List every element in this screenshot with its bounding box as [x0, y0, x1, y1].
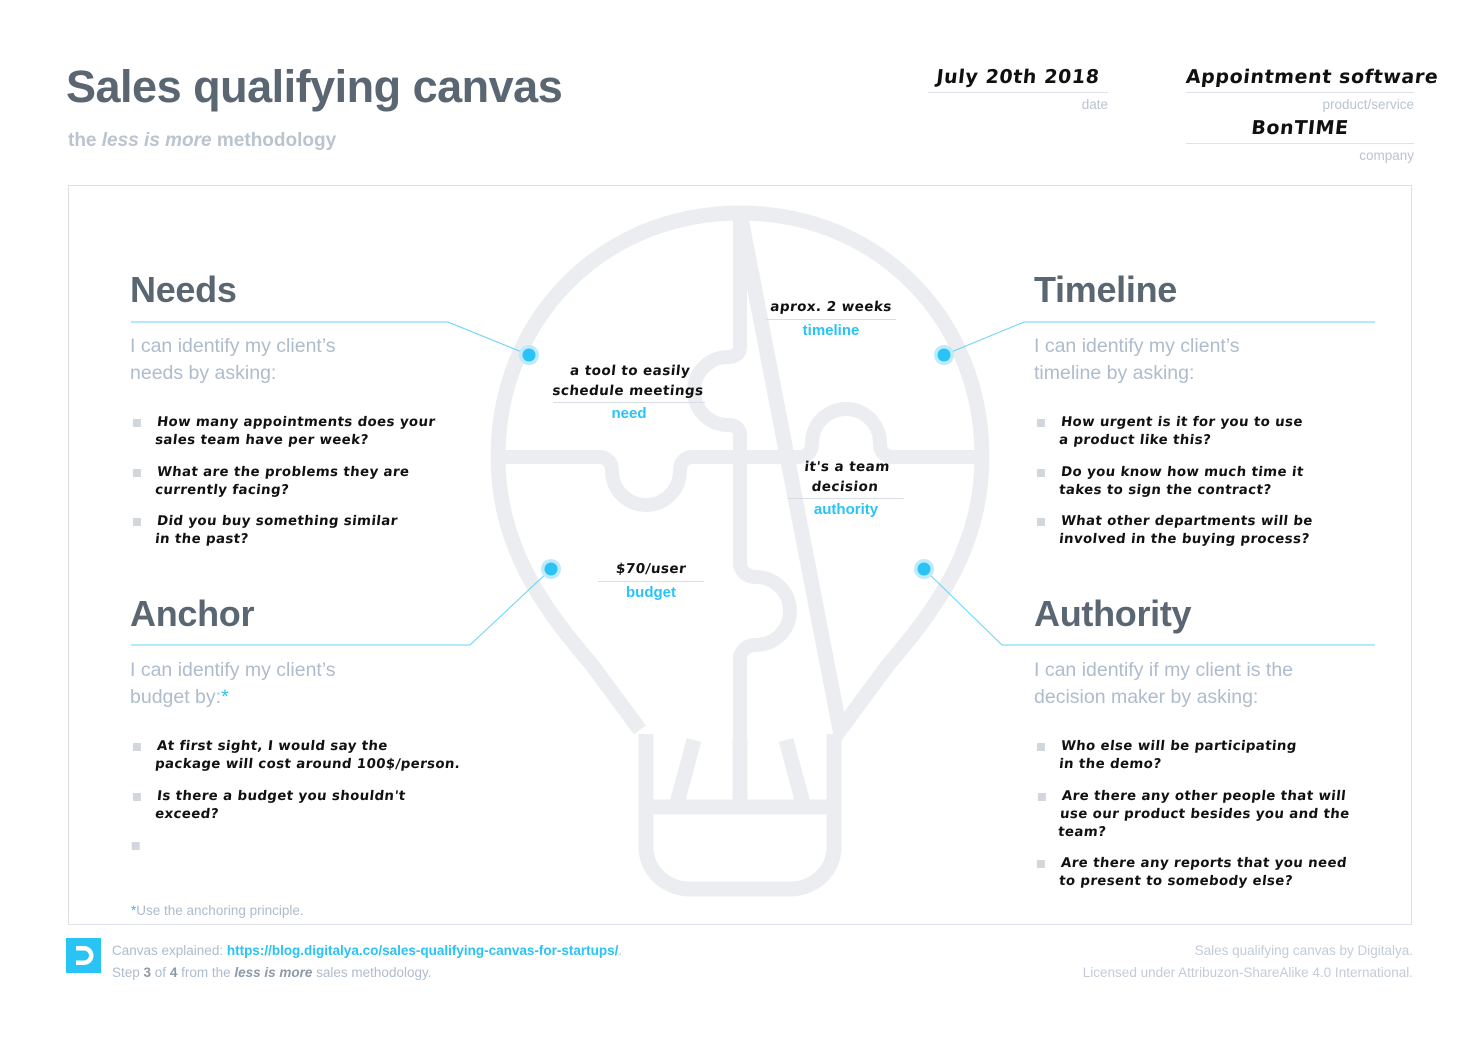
annotation-need-value: a tool to easily schedule meetings: [551, 362, 707, 401]
quadrant-authority-list: Who else will be participating in the de…: [1034, 738, 1394, 891]
list-item[interactable]: Are there any reports that you need to p…: [1032, 855, 1396, 891]
quadrant-timeline-lead: I can identify my client’s timeline by a…: [1034, 333, 1384, 386]
blog-link[interactable]: https://blog.digitalya.co/sales-qualifyi…: [227, 943, 619, 958]
field-product-service[interactable]: Appointment software product/service: [1186, 66, 1414, 112]
step-current: 3: [144, 965, 152, 980]
quadrant-authority-title: Authority: [1034, 596, 1394, 632]
footer-right: Sales qualifying canvas by Digitalya. Li…: [1083, 940, 1413, 984]
field-company-value: BonTIME: [1185, 117, 1415, 139]
footer-link-period: .: [618, 943, 622, 958]
annotation-budget-key: budget: [598, 584, 704, 601]
list-item[interactable]: Did you buy something similar in the pas…: [128, 513, 462, 549]
quadrant-timeline-list: How urgent is it for you to use a produc…: [1034, 414, 1384, 549]
step-mid: of: [151, 965, 170, 980]
quadrant-authority: Authority I can identify if my client is…: [1034, 596, 1394, 905]
quadrant-anchor-lead: I can identify my client’s budget by:*: [130, 657, 470, 710]
list-item[interactable]: How many appointments does your sales te…: [128, 414, 462, 450]
list-item[interactable]: What other departments will be involved …: [1032, 513, 1386, 549]
list-item[interactable]: Is there a budget you shouldn't exceed?: [128, 788, 472, 824]
digitalya-logo-icon: [66, 938, 101, 973]
field-date-rule: [928, 91, 1108, 93]
annotation-budget-rule: [598, 581, 704, 582]
list-item[interactable]: Are there any other people that will use…: [1031, 788, 1397, 841]
annotation-timeline-value: aprox. 2 weeks: [765, 298, 897, 318]
field-company-rule: [1186, 142, 1414, 144]
footer-credit-line1: Sales qualifying canvas by Digitalya.: [1083, 940, 1413, 962]
annotation-authority-rule: [788, 498, 904, 499]
annotation-authority-value: it's a team decision: [786, 458, 906, 497]
page-title: Sales qualifying canvas: [66, 64, 562, 109]
page-subtitle: the less is more methodology: [68, 130, 336, 152]
quadrant-needs-title: Needs: [130, 272, 460, 308]
list-item[interactable]: How urgent is it for you to use a produc…: [1032, 414, 1386, 450]
annotation-need[interactable]: a tool to easily schedule meetings need: [553, 362, 705, 422]
annotation-need-rule: [553, 402, 705, 403]
quadrant-anchor: Anchor I can identify my client’s budget…: [130, 596, 470, 863]
field-date-label: date: [928, 97, 1108, 112]
field-company[interactable]: BonTIME company: [1186, 117, 1414, 163]
field-product-rule: [1186, 91, 1414, 93]
subtitle-emphasis: less is more: [102, 130, 212, 151]
footer-explained-label: Canvas explained:: [112, 943, 227, 958]
annotation-timeline-key: timeline: [766, 322, 896, 339]
anchor-footnote: *Use the anchoring principle.: [131, 903, 304, 918]
lightbulb-puzzle-illustration: [480, 195, 1000, 905]
annotation-authority[interactable]: it's a team decision authority: [788, 458, 904, 518]
annotation-budget-value: $70/user: [597, 560, 705, 580]
footer-credit-line2: Licensed under Attribuzon-ShareAlike 4.0…: [1083, 962, 1413, 984]
step-emphasis: less is more: [234, 965, 312, 980]
quadrant-timeline: Timeline I can identify my client’s time…: [1034, 272, 1384, 563]
quadrant-needs-lead: I can identify my client’s needs by aski…: [130, 333, 460, 386]
list-item[interactable]: At first sight, I would say the package …: [128, 738, 472, 774]
annotation-need-key: need: [553, 405, 705, 422]
annotation-timeline[interactable]: aprox. 2 weeks timeline: [766, 298, 896, 339]
annotation-authority-key: authority: [788, 501, 904, 518]
quadrant-anchor-list: At first sight, I would say the package …: [130, 738, 470, 849]
quadrant-authority-lead: I can identify if my client is the decis…: [1034, 657, 1394, 710]
sales-qualifying-canvas-page: Sales qualifying canvas the less is more…: [0, 0, 1481, 1043]
list-item[interactable]: [129, 837, 470, 849]
footer-left: Canvas explained: https://blog.digitalya…: [112, 940, 622, 984]
quadrant-timeline-title: Timeline: [1034, 272, 1384, 308]
quadrant-needs: Needs I can identify my client’s needs b…: [130, 272, 460, 563]
footer-step-line: Step 3 of 4 from the less is more sales …: [112, 962, 622, 984]
footer-canvas-explained: Canvas explained: https://blog.digitalya…: [112, 940, 622, 962]
list-item[interactable]: Who else will be participating in the de…: [1032, 738, 1396, 774]
footnote-text: Use the anchoring principle.: [136, 903, 303, 918]
list-item[interactable]: Do you know how much time it takes to si…: [1032, 464, 1386, 500]
quadrant-needs-list: How many appointments does your sales te…: [130, 414, 460, 549]
field-date-value: July 20th 2018: [927, 66, 1109, 88]
annotation-timeline-rule: [766, 319, 896, 320]
field-product-label: product/service: [1186, 97, 1414, 112]
field-product-value: Appointment software: [1185, 66, 1415, 88]
quadrant-anchor-title: Anchor: [130, 596, 470, 632]
step-post: from the: [177, 965, 234, 980]
list-item[interactable]: What are the problems they are currently…: [128, 464, 462, 500]
quadrant-anchor-lead-text: I can identify my client’s budget by:: [130, 659, 336, 708]
annotation-budget[interactable]: $70/user budget: [598, 560, 704, 601]
subtitle-pre: the: [68, 130, 102, 151]
step-pre: Step: [112, 965, 144, 980]
step-end: sales methodology.: [312, 965, 431, 980]
quadrant-anchor-lead-star: *: [221, 686, 229, 708]
subtitle-post: methodology: [212, 130, 337, 151]
field-date[interactable]: July 20th 2018 date: [928, 66, 1108, 112]
field-company-label: company: [1186, 148, 1414, 163]
